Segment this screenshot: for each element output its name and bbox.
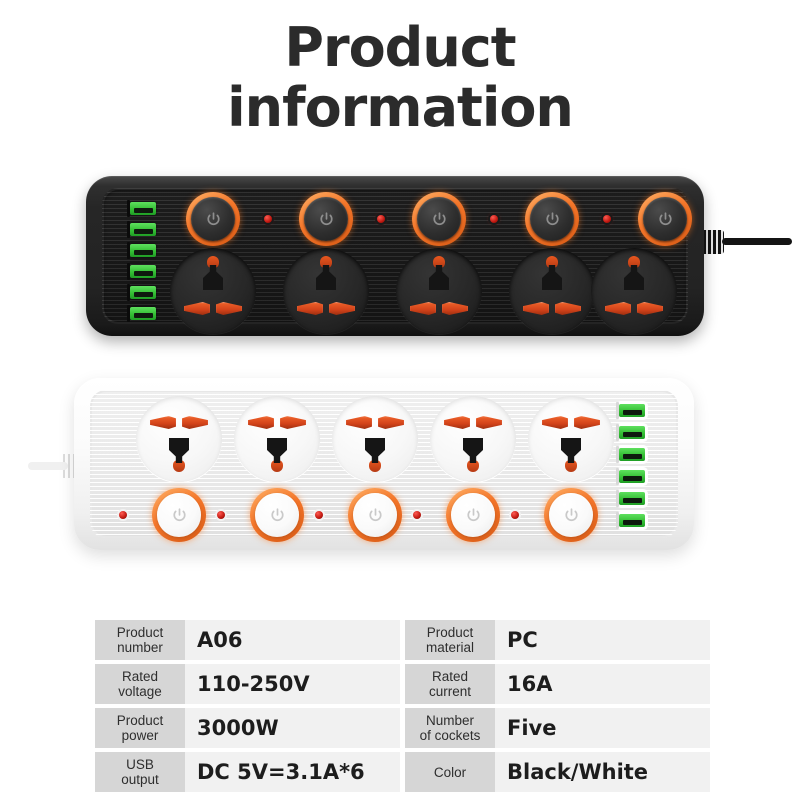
indicator-led xyxy=(490,215,498,223)
socket-slot-left xyxy=(605,302,631,315)
title-line-1: Product xyxy=(0,18,800,78)
spec-label: USB output xyxy=(95,752,185,792)
spec-label-line1: Rated xyxy=(432,669,468,684)
socket-earth-pin xyxy=(463,438,483,472)
switch-cap xyxy=(417,197,461,241)
socket-earth-pin xyxy=(267,438,287,472)
switch-cap xyxy=(255,493,299,537)
socket-slot-left xyxy=(150,416,176,429)
usb-port[interactable] xyxy=(130,265,156,278)
spec-label: Product material xyxy=(405,620,495,660)
usb-port[interactable] xyxy=(619,426,645,439)
spec-label-line1: Rated xyxy=(122,669,158,684)
switch-cap xyxy=(353,493,397,537)
spec-value: 16A xyxy=(495,664,710,704)
socket-slot-left xyxy=(410,302,436,315)
indicator-led xyxy=(511,511,519,519)
spec-value: A06 xyxy=(185,620,400,660)
switch-cap xyxy=(191,197,235,241)
power-icon xyxy=(544,211,561,228)
indicator-led xyxy=(377,215,385,223)
spec-value: PC xyxy=(495,620,710,660)
spec-row: USB output DC 5V=3.1A*6 xyxy=(95,752,400,792)
socket-slot-right xyxy=(442,302,468,315)
socket-earth-pin xyxy=(203,256,223,290)
usb-port[interactable] xyxy=(619,448,645,461)
socket-slot-left xyxy=(542,416,568,429)
socket-slot-left xyxy=(523,302,549,315)
title-line-2: information xyxy=(0,78,800,138)
specification-table: Product number A06 Rated voltage 110-250… xyxy=(95,620,710,792)
white-power-strip xyxy=(74,378,694,550)
power-switch[interactable] xyxy=(348,488,402,542)
switch-cap xyxy=(530,197,574,241)
power-switch[interactable] xyxy=(412,192,466,246)
spec-label-line1: USB xyxy=(126,757,154,772)
usb-port[interactable] xyxy=(130,244,156,257)
power-socket[interactable] xyxy=(283,248,369,334)
spec-label-line2: material xyxy=(426,640,474,655)
socket-slot-left xyxy=(346,416,372,429)
socket-earth-pin xyxy=(624,256,644,290)
spec-label-line2: output xyxy=(121,772,159,787)
indicator-led xyxy=(603,215,611,223)
socket-earth-pin xyxy=(561,438,581,472)
indicator-led xyxy=(217,511,225,519)
power-socket[interactable] xyxy=(430,396,516,482)
spec-value: Black/White xyxy=(495,752,710,792)
socket-earth-pin xyxy=(542,256,562,290)
spec-label: Rated current xyxy=(405,664,495,704)
socket-slot-right xyxy=(280,416,306,429)
usb-port[interactable] xyxy=(130,286,156,299)
usb-port[interactable] xyxy=(619,404,645,417)
power-socket[interactable] xyxy=(509,248,595,334)
socket-slot-right xyxy=(378,416,404,429)
spec-label-line1: Product xyxy=(117,625,164,640)
power-switch[interactable] xyxy=(525,192,579,246)
socket-slot-left xyxy=(184,302,210,315)
power-switch[interactable] xyxy=(446,488,500,542)
socket-slot-right xyxy=(574,416,600,429)
spec-label: Rated voltage xyxy=(95,664,185,704)
spec-label: Number of cockets xyxy=(405,708,495,748)
power-socket[interactable] xyxy=(136,396,222,482)
socket-earth-pin xyxy=(316,256,336,290)
spec-label-line2: voltage xyxy=(118,684,162,699)
spec-row: Rated current 16A xyxy=(405,664,710,704)
spec-row: Number of cockets Five xyxy=(405,708,710,748)
indicator-led xyxy=(315,511,323,519)
indicator-led xyxy=(413,511,421,519)
socket-earth-pin xyxy=(169,438,189,472)
spec-label-line2: of cockets xyxy=(420,728,481,743)
spec-label-line2: current xyxy=(429,684,471,699)
switch-cap xyxy=(549,493,593,537)
spec-row: Color Black/White xyxy=(405,752,710,792)
power-socket[interactable] xyxy=(170,248,256,334)
power-socket[interactable] xyxy=(332,396,418,482)
power-switch[interactable] xyxy=(250,488,304,542)
usb-port[interactable] xyxy=(130,307,156,320)
spec-label-line1: Color xyxy=(434,765,466,780)
switch-cap xyxy=(451,493,495,537)
power-icon xyxy=(171,507,188,524)
spec-row: Rated voltage 110-250V xyxy=(95,664,400,704)
socket-earth-pin xyxy=(429,256,449,290)
usb-port[interactable] xyxy=(619,492,645,505)
socket-slot-left xyxy=(248,416,274,429)
power-socket[interactable] xyxy=(234,396,320,482)
power-switch[interactable] xyxy=(638,192,692,246)
spec-row: Product number A06 xyxy=(95,620,400,660)
spec-value: 110-250V xyxy=(185,664,400,704)
power-icon xyxy=(269,507,286,524)
power-socket[interactable] xyxy=(591,248,677,334)
usb-port[interactable] xyxy=(130,202,156,215)
socket-slot-right xyxy=(637,302,663,315)
power-icon xyxy=(431,211,448,228)
indicator-led xyxy=(264,215,272,223)
power-switch[interactable] xyxy=(152,488,206,542)
spec-value: 3000W xyxy=(185,708,400,748)
usb-port[interactable] xyxy=(619,470,645,483)
socket-slot-right xyxy=(329,302,355,315)
power-icon xyxy=(205,211,222,228)
usb-port[interactable] xyxy=(130,223,156,236)
spec-label: Product number xyxy=(95,620,185,660)
socket-slot-right xyxy=(555,302,581,315)
socket-slot-right xyxy=(476,416,502,429)
spec-row: Product power 3000W xyxy=(95,708,400,748)
socket-slot-right xyxy=(182,416,208,429)
socket-slot-left xyxy=(297,302,323,315)
power-icon xyxy=(318,211,335,228)
spec-row: Product material PC xyxy=(405,620,710,660)
switch-cap xyxy=(304,197,348,241)
page-title: Product information xyxy=(0,18,800,138)
spec-value: Five xyxy=(495,708,710,748)
spec-label-line2: power xyxy=(122,728,159,743)
power-switch[interactable] xyxy=(299,192,353,246)
power-socket[interactable] xyxy=(396,248,482,334)
spec-label: Product power xyxy=(95,708,185,748)
power-icon xyxy=(465,507,482,524)
spec-label-line2: number xyxy=(117,640,163,655)
switch-cap xyxy=(643,197,687,241)
socket-earth-pin xyxy=(365,438,385,472)
switch-cap xyxy=(157,493,201,537)
spec-value: DC 5V=3.1A*6 xyxy=(185,752,400,792)
power-icon xyxy=(657,211,674,228)
spec-label-line1: Product xyxy=(427,625,474,640)
power-switch[interactable] xyxy=(544,488,598,542)
usb-port[interactable] xyxy=(619,514,645,527)
spec-label: Color xyxy=(405,752,495,792)
power-icon xyxy=(367,507,384,524)
black-power-strip xyxy=(86,176,704,336)
product-information-page: Product information xyxy=(0,0,800,800)
indicator-led xyxy=(119,511,127,519)
spec-column-left: Product number A06 Rated voltage 110-250… xyxy=(95,620,400,792)
power-icon xyxy=(563,507,580,524)
spec-column-right: Product material PC Rated current 16A Nu… xyxy=(405,620,710,792)
spec-label-line1: Product xyxy=(117,713,164,728)
spec-label-line1: Number xyxy=(426,713,474,728)
power-socket[interactable] xyxy=(528,396,614,482)
power-switch[interactable] xyxy=(186,192,240,246)
socket-slot-right xyxy=(216,302,242,315)
socket-slot-left xyxy=(444,416,470,429)
